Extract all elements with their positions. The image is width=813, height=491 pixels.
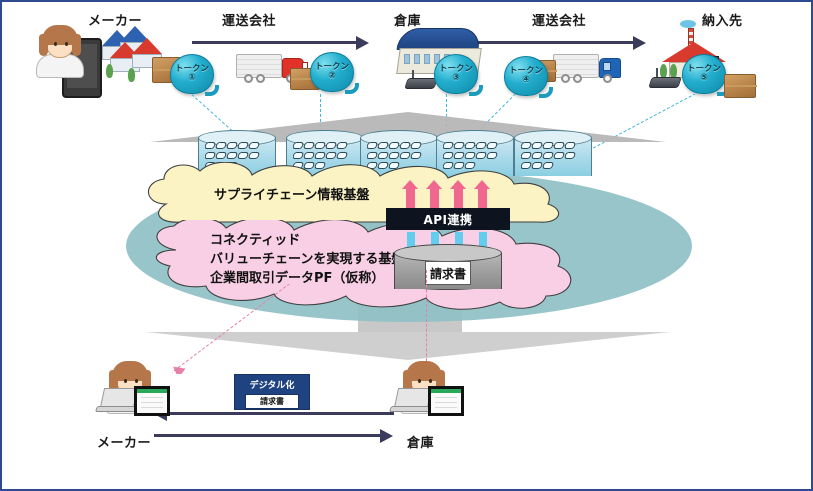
invoice-store-label: 請求書 xyxy=(425,261,471,285)
digitalization-box: デジタル化 請求書 xyxy=(234,374,310,410)
api-integration-label: API連携 xyxy=(423,211,472,228)
connected-cloud-line-1: コネクティッド xyxy=(210,232,404,251)
token-3: トークン ③ xyxy=(434,54,478,94)
api-up-arrow-2 xyxy=(430,188,439,208)
invoice-store-cylinder: 請求書 xyxy=(394,244,502,298)
header-label-carrier-1: 運送会社 xyxy=(222,10,276,29)
platform-to-maker-link xyxy=(172,284,292,374)
token-3-number: ③ xyxy=(452,74,460,83)
supply-chain-cloud-label: サプライチェーン情報基盤 xyxy=(214,184,369,203)
platform-to-warehouse-link xyxy=(426,270,427,366)
token-5: トークン ⑤ xyxy=(682,54,726,94)
header-label-carrier-2: 運送会社 xyxy=(532,10,586,29)
token-1-number: ① xyxy=(188,74,196,83)
api-up-arrow-1 xyxy=(406,188,415,208)
connected-cloud-line-2: バリューチェーンを実現する基盤 xyxy=(210,251,404,270)
api-up-arrow-3 xyxy=(454,188,463,208)
api-up-arrow-4 xyxy=(478,188,487,208)
digitalization-title: デジタル化 xyxy=(250,378,295,391)
digitalization-invoice-label: 請求書 xyxy=(245,394,299,409)
header-label-warehouse: 倉庫 xyxy=(394,10,421,29)
token-2-number: ② xyxy=(328,72,336,81)
router-icon-2 xyxy=(650,68,686,90)
package-icon-4 xyxy=(724,74,756,98)
token-4: トークン ④ xyxy=(504,56,548,96)
token-2: トークン ② xyxy=(310,52,354,92)
bottom-label-warehouse: 倉庫 xyxy=(407,432,434,451)
token-5-number: ⑤ xyxy=(700,74,708,83)
bottom-warehouse-person-icon xyxy=(388,364,464,424)
token-1: トークン ① xyxy=(170,54,214,94)
token-4-number: ④ xyxy=(522,76,530,85)
bottom-label-maker: メーカー xyxy=(97,432,151,451)
diagram-canvas: メーカー 運送会社 倉庫 運送会社 納入先 xyxy=(0,0,813,491)
connected-cloud-lines: コネクティッド バリューチェーンを実現する基盤 企業間取引データPF（仮称） xyxy=(210,232,404,289)
bottom-maker-person-icon xyxy=(94,364,170,424)
api-integration-box: API連携 xyxy=(386,208,510,230)
